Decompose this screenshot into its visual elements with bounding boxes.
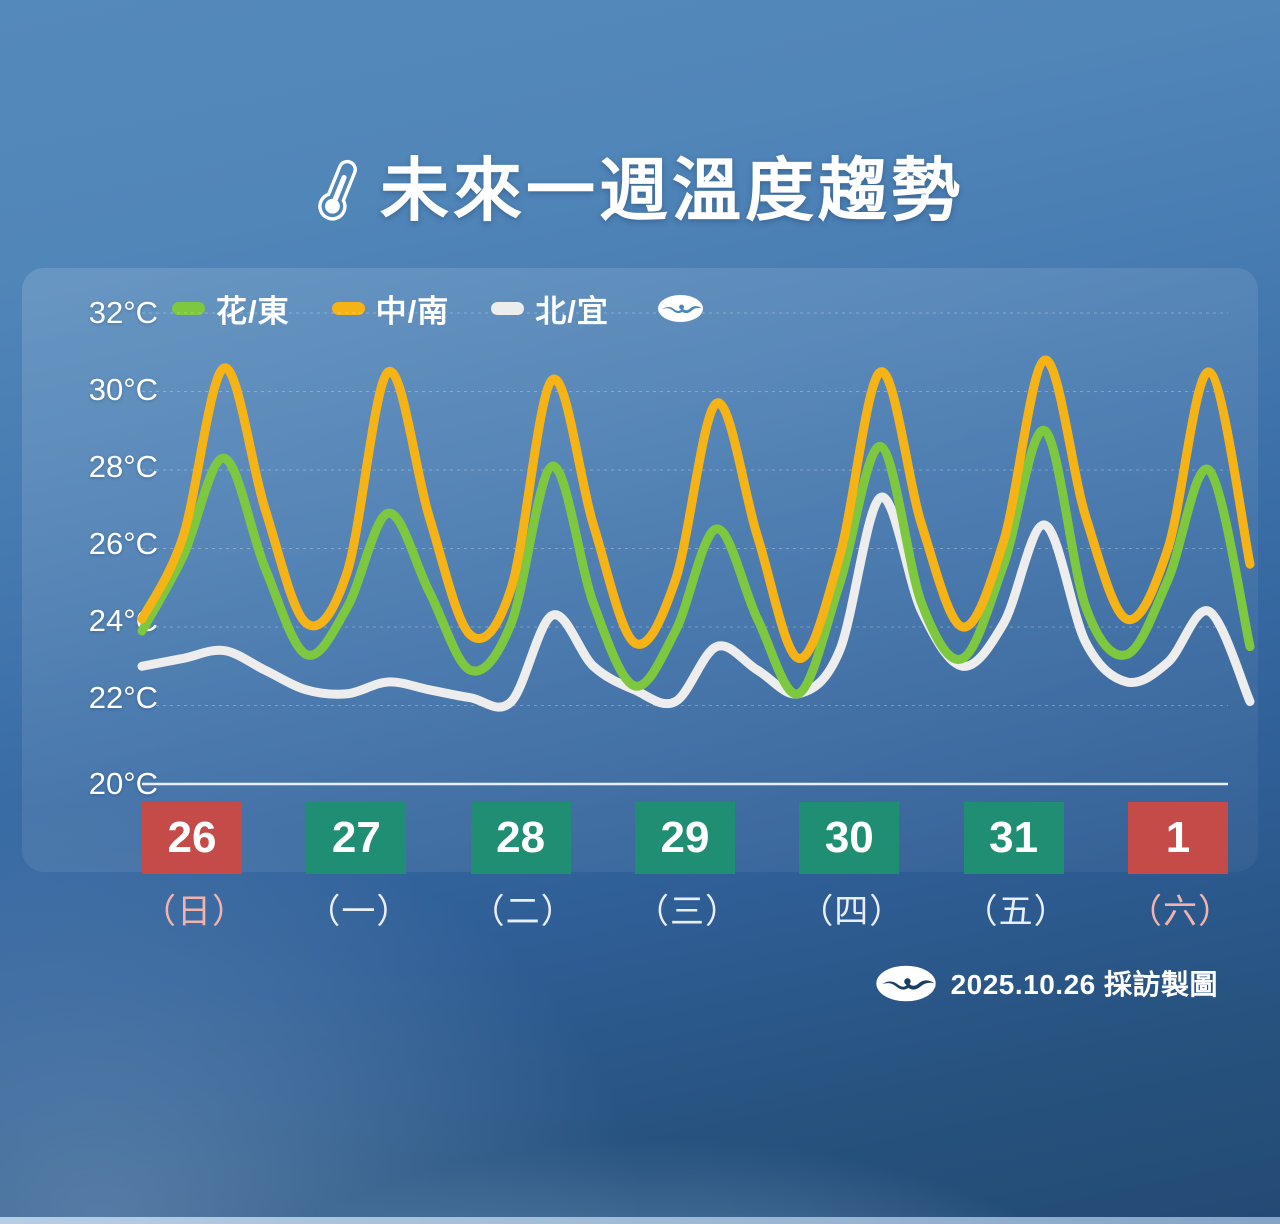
page-title-row: 未來一週溫度趨勢 xyxy=(0,152,1280,228)
bottom-accent-bar xyxy=(0,1217,1280,1224)
weekday-label-31: （五） xyxy=(964,884,1064,934)
date-box-31[interactable]: 31 xyxy=(964,802,1064,874)
footer-text: 2025.10.26 採訪製圖 xyxy=(951,963,1218,1003)
temperature-line-chart xyxy=(22,268,1258,872)
date-number: 26 xyxy=(168,813,217,863)
weekday-strip: （日）（一）（二）（三）（四）（五）（六） xyxy=(142,884,1228,934)
footer-credit: 2025.10.26 採訪製圖 xyxy=(875,963,1218,1003)
date-number: 30 xyxy=(825,813,874,863)
date-box-27[interactable]: 27 xyxy=(306,802,406,874)
date-box-29[interactable]: 29 xyxy=(635,802,735,874)
date-strip: 2627282930311 xyxy=(142,802,1228,874)
weekday-label-27: （一） xyxy=(306,884,406,934)
date-box-28[interactable]: 28 xyxy=(471,802,571,874)
date-box-26[interactable]: 26 xyxy=(142,802,242,874)
date-number: 28 xyxy=(496,813,545,863)
date-number: 27 xyxy=(332,813,381,863)
weekday-label-30: （四） xyxy=(799,884,899,934)
weekday-label-26: （日） xyxy=(142,884,242,934)
chart-series-group xyxy=(142,360,1250,707)
date-number: 1 xyxy=(1166,813,1190,863)
thermometer-icon xyxy=(316,152,362,228)
date-number: 29 xyxy=(661,813,710,863)
weekday-label-29: （三） xyxy=(635,884,735,934)
date-box-1[interactable]: 1 xyxy=(1128,802,1228,874)
weekday-label-28: （二） xyxy=(471,884,571,934)
cwa-logo-icon xyxy=(875,964,937,1003)
page-title: 未來一週溫度趨勢 xyxy=(380,156,964,225)
date-number: 31 xyxy=(989,813,1038,863)
weekday-label-1: （六） xyxy=(1128,884,1228,934)
date-box-30[interactable]: 30 xyxy=(799,802,899,874)
chart-panel: 花/東 中/南 北/宜 32°C 30°C 28°C 26°C 24°C 22°… xyxy=(22,268,1258,872)
